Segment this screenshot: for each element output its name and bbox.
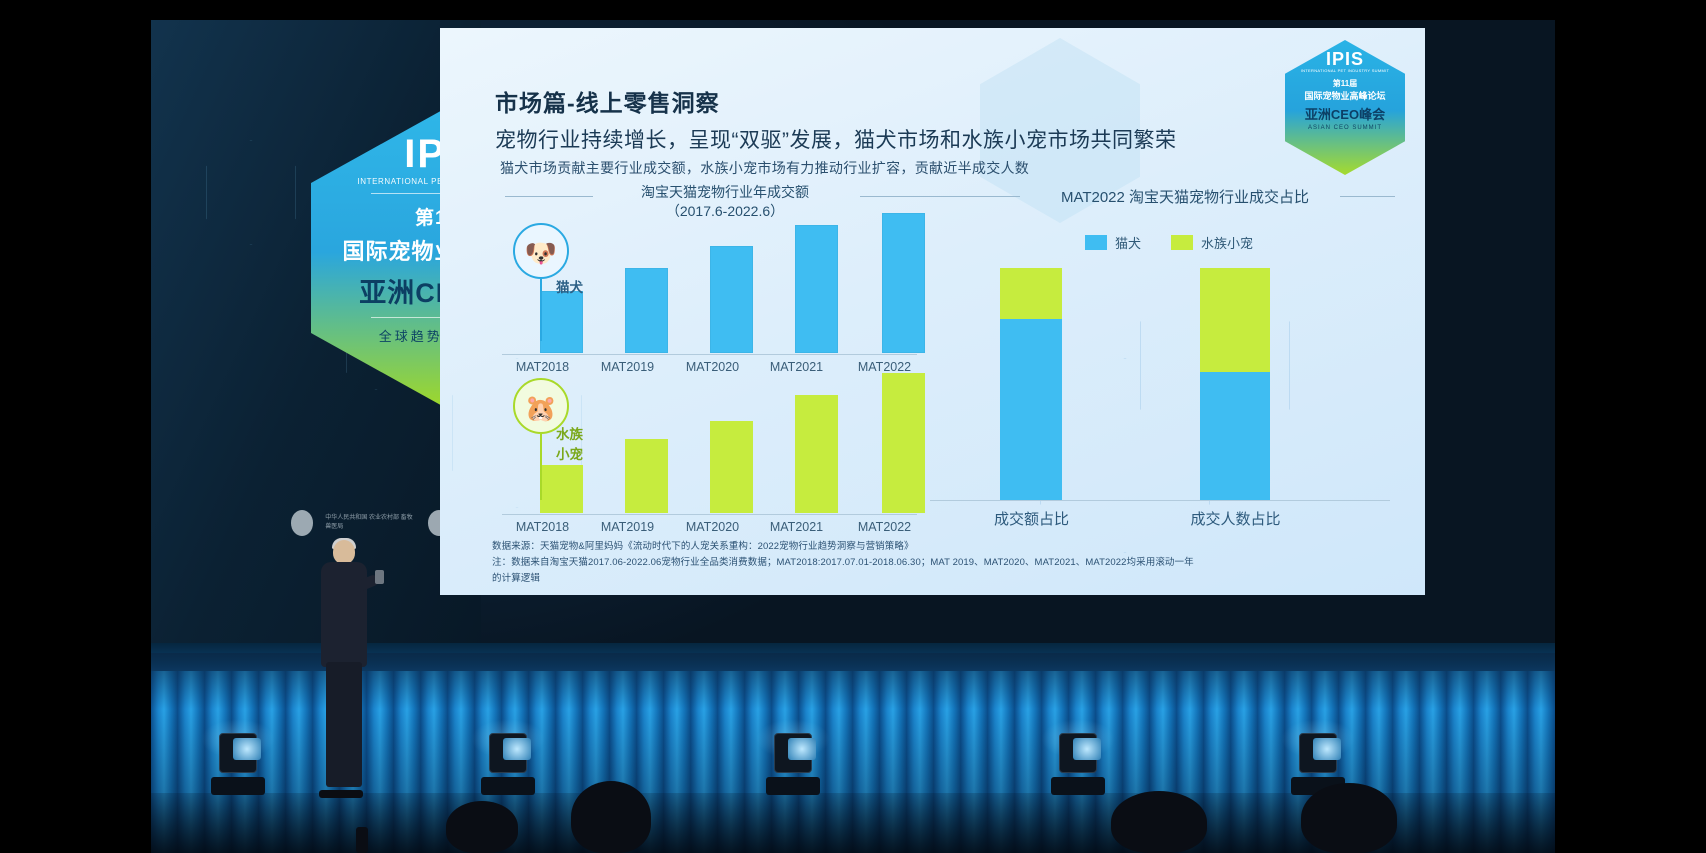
screenshot-root: IPIS INTERNATIONAL PET INDUSTRY SUMMIT 第…	[0, 0, 1706, 853]
xtick-gmv-share: 成交额占比	[964, 508, 1099, 529]
bar-mat2022	[882, 213, 925, 353]
presenter-shoes	[319, 790, 363, 798]
legend-label-cats-dogs: 猫犬	[1115, 233, 1141, 252]
stage-light	[211, 733, 265, 795]
xtick-mat2022: MAT2022	[822, 360, 947, 374]
x-axis-share	[930, 500, 1390, 501]
cats-dogs-stem	[540, 279, 542, 341]
audience-head	[446, 801, 518, 853]
bar-mat2020	[710, 421, 753, 513]
xtick-buyers-share: 成交人数占比	[1158, 508, 1313, 529]
footnote-note-cont: 的计算逻辑	[492, 572, 540, 587]
mic-stand	[356, 827, 368, 853]
footnote-source: 数据来源：天猫宠物&阿里妈妈《流动时代下的人宠关系重构：2022宠物行业趋势洞察…	[492, 540, 914, 555]
audience-head	[571, 781, 651, 853]
slide-logo-badge: IPIS INTERNATIONAL PET INDUSTRY SUMMIT 第…	[1285, 40, 1405, 175]
presenter-legs	[326, 662, 362, 787]
stack-segment-aquatic	[1200, 268, 1270, 372]
audience-head	[1301, 783, 1397, 853]
aquatic-label-line2: 小宠	[556, 443, 583, 463]
section-rule-right	[945, 196, 1020, 197]
bar-mat2021	[795, 395, 838, 513]
bar-mat2018	[540, 291, 583, 353]
slide-headline: 宠物行业持续增长，呈现“双驱”发展，猫犬市场和水族小宠市场共同繁荣	[495, 124, 1176, 154]
slide-logo-subtitle: INTERNATIONAL PET INDUSTRY SUMMIT	[1285, 68, 1405, 73]
sponsor-logo-1	[291, 510, 313, 536]
bar-mat2019	[625, 268, 668, 353]
stack-segment-cats-dogs	[1200, 372, 1270, 500]
presenter-figure	[313, 540, 375, 795]
x-axis-aquatic	[502, 514, 917, 515]
stage-light	[481, 733, 535, 795]
bar-mat2021	[795, 225, 838, 353]
chart-legend: 猫犬 水族小宠	[1085, 233, 1253, 252]
presenter-head	[333, 540, 355, 564]
slide-logo-line-1: 第11届	[1285, 78, 1405, 89]
slide-title: 市场篇-线上零售洞察	[495, 84, 720, 118]
section-rule-left	[505, 196, 593, 197]
section-rule-right-2	[1340, 196, 1395, 197]
bar-mat2018	[540, 465, 583, 513]
cat-dog-photo-icon: 🐶	[515, 225, 567, 279]
stack-segment-cats-dogs	[1000, 319, 1062, 500]
slide-logo-line-2: 国际宠物业高峰论坛	[1285, 89, 1405, 102]
bar-mat2019	[625, 439, 668, 513]
slide-logo-text: IPIS	[1285, 50, 1405, 68]
aquatic-label-line1: 水族	[556, 423, 583, 443]
bar-mat2022	[882, 373, 925, 513]
stack-segment-aquatic	[1000, 268, 1062, 319]
microphone-icon	[375, 570, 384, 584]
stage-light	[1051, 733, 1105, 795]
xtick-mat2022: MAT2022	[822, 520, 947, 534]
sponsor-text-1: 中华人民共和国 农业农村部 畜牧兽医局	[325, 514, 415, 532]
section-rule-left-2	[860, 196, 948, 197]
legend-swatch-aquatic	[1171, 235, 1193, 250]
stacked-bar-gmv-share	[1000, 268, 1062, 500]
presenter-torso	[321, 562, 367, 667]
slide-logo-line-3: 亚洲CEO峰会	[1285, 104, 1405, 123]
aquatic-stem	[540, 434, 542, 500]
stage-light	[766, 733, 820, 795]
slide-logo-line-4: ASIAN CEO SUMMIT	[1285, 125, 1405, 131]
bar-mat2020	[710, 246, 753, 353]
x-axis-cats-dogs	[502, 354, 917, 355]
legend-label-aquatic: 水族小宠	[1201, 233, 1253, 252]
audience-head	[1111, 791, 1207, 853]
legend-swatch-cats-dogs	[1085, 235, 1107, 250]
right-chart-title: MAT2022 淘宝天猫宠物行业成交占比	[1025, 188, 1345, 208]
footnote-note: 注：数据来自淘宝天猫2017.06-2022.06宠物行业全品类消费数据；MAT…	[492, 556, 1194, 571]
left-chart-title-line1: 淘宝天猫宠物行业年成交额	[600, 183, 850, 202]
slide-subtitle: 猫犬市场贡献主要行业成交额，水族小宠市场有力推动行业扩容，贡献近半成交人数	[500, 158, 1029, 178]
cats-dogs-label: 猫犬	[556, 276, 583, 296]
presentation-slide: IPIS INTERNATIONAL PET INDUSTRY SUMMIT 第…	[440, 28, 1425, 595]
stacked-bar-buyers-share	[1200, 268, 1270, 500]
cats-dogs-icon: 🐶	[513, 223, 569, 279]
